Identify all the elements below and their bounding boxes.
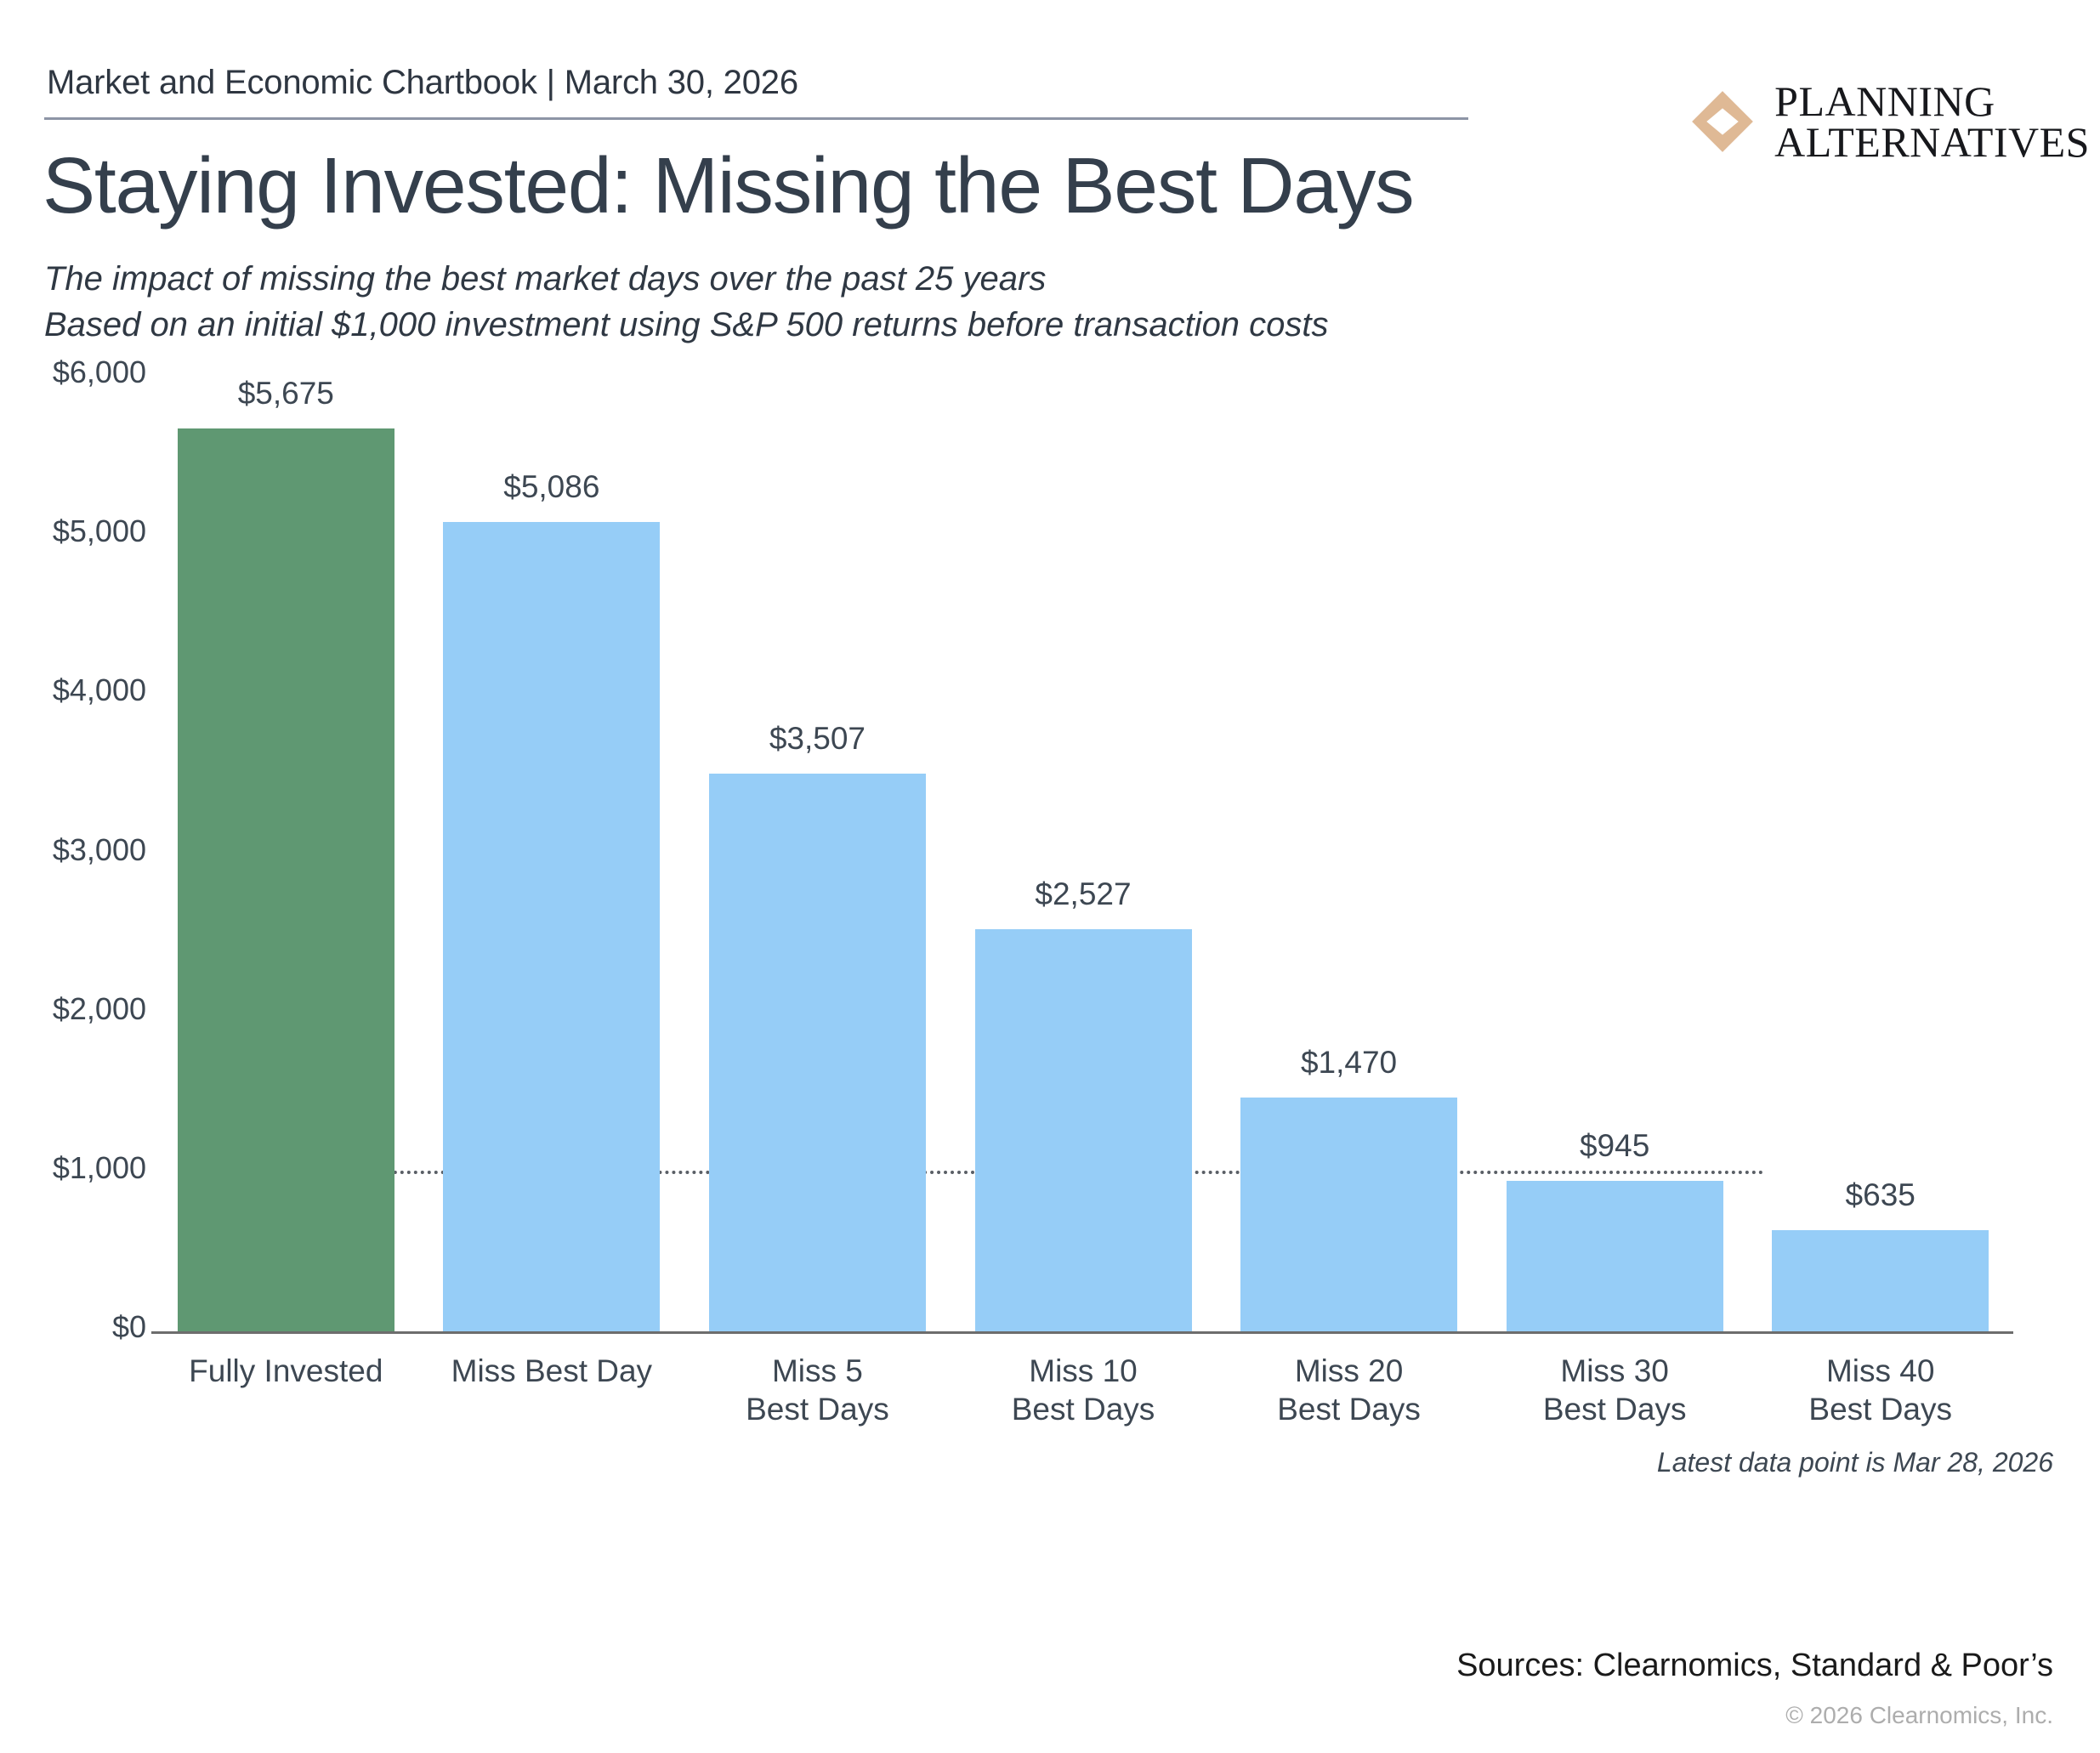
bar-value-label: $635	[1728, 1177, 2034, 1213]
sources-note: Sources: Clearnomics, Standard & Poor’s	[1456, 1648, 2053, 1684]
x-axis-baseline	[151, 1331, 2013, 1334]
y-axis-tick-label: $3,000	[53, 832, 146, 868]
bar[interactable]	[1507, 1181, 1723, 1331]
bar[interactable]	[709, 774, 926, 1331]
bar-value-label: $2,527	[930, 876, 1236, 912]
latest-data-point-note: Latest data point is Mar 28, 2026	[1657, 1447, 2053, 1478]
y-axis-tick-label: $0	[112, 1309, 146, 1345]
y-axis-tick-label: $5,000	[53, 513, 146, 549]
bar-value-label: $5,675	[133, 376, 439, 411]
bar[interactable]	[1772, 1230, 1989, 1331]
bar-value-label: $1,470	[1196, 1045, 1502, 1081]
bar-value-label: $945	[1461, 1128, 1768, 1164]
y-axis-tick-label: $2,000	[53, 991, 146, 1027]
bar[interactable]	[975, 929, 1192, 1331]
bar-chart: $0$1,000$2,000$3,000$4,000$5,000$6,000 $…	[0, 0, 2100, 1753]
copyright-note: © 2026 Clearnomics, Inc.	[1785, 1702, 2053, 1729]
bar-value-label: $5,086	[399, 469, 705, 505]
x-axis-tick-label: Miss 40 Best Days	[1719, 1352, 2042, 1428]
y-axis-tick-label: $1,000	[53, 1150, 146, 1186]
bar[interactable]	[1240, 1098, 1457, 1331]
bar[interactable]	[443, 522, 660, 1331]
bar[interactable]	[178, 428, 394, 1331]
y-axis-tick-label: $4,000	[53, 672, 146, 708]
bar-value-label: $3,507	[664, 721, 970, 757]
